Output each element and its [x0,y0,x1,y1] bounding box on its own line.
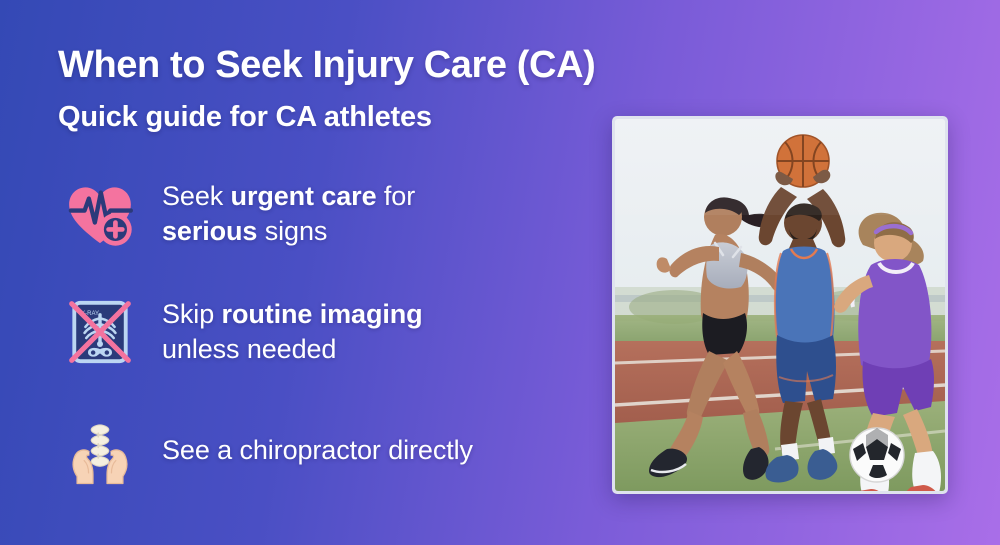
list-item-label: See a chiropractor directly [162,433,473,469]
athletes-photo [615,119,945,491]
bullet-2-line2-post: unless needed [162,334,336,364]
bullet-1-line1-post: for [377,181,416,211]
list-item: Seek urgent care for serious signs [58,172,588,256]
bullet-2-line1-bold: routine imaging [222,299,423,329]
page-subtitle: Quick guide for CA athletes [58,100,588,135]
list-item: X-RAY [58,290,588,374]
bullet-2-line1-pre: Skip [162,299,222,329]
bullet-1-line2-bold: serious [162,216,257,246]
xray-crossed-out-icon: X-RAY [58,290,142,374]
hands-holding-spine-icon [58,408,142,492]
bullet-1-line1-pre: Seek [162,181,231,211]
list-item: See a chiropractor directly [58,408,588,492]
bullet-1-line1-bold: urgent care [231,181,377,211]
list-item-label: Skip routine imaging unless needed [162,297,423,369]
text-column: When to Seek Injury Care (CA) Quick guid… [58,44,588,492]
heart-pulse-plus-icon [58,172,142,256]
poster-canvas: When to Seek Injury Care (CA) Quick guid… [0,0,1000,545]
bullet-list: Seek urgent care for serious signs X-RAY [58,172,588,492]
list-item-label: Seek urgent care for serious signs [162,179,415,251]
bullet-1-line2-post: signs [257,216,327,246]
page-title: When to Seek Injury Care (CA) [58,44,588,88]
athletes-photo-frame [612,116,948,494]
bullet-3-line1-pre: See a chiropractor directly [162,435,473,465]
